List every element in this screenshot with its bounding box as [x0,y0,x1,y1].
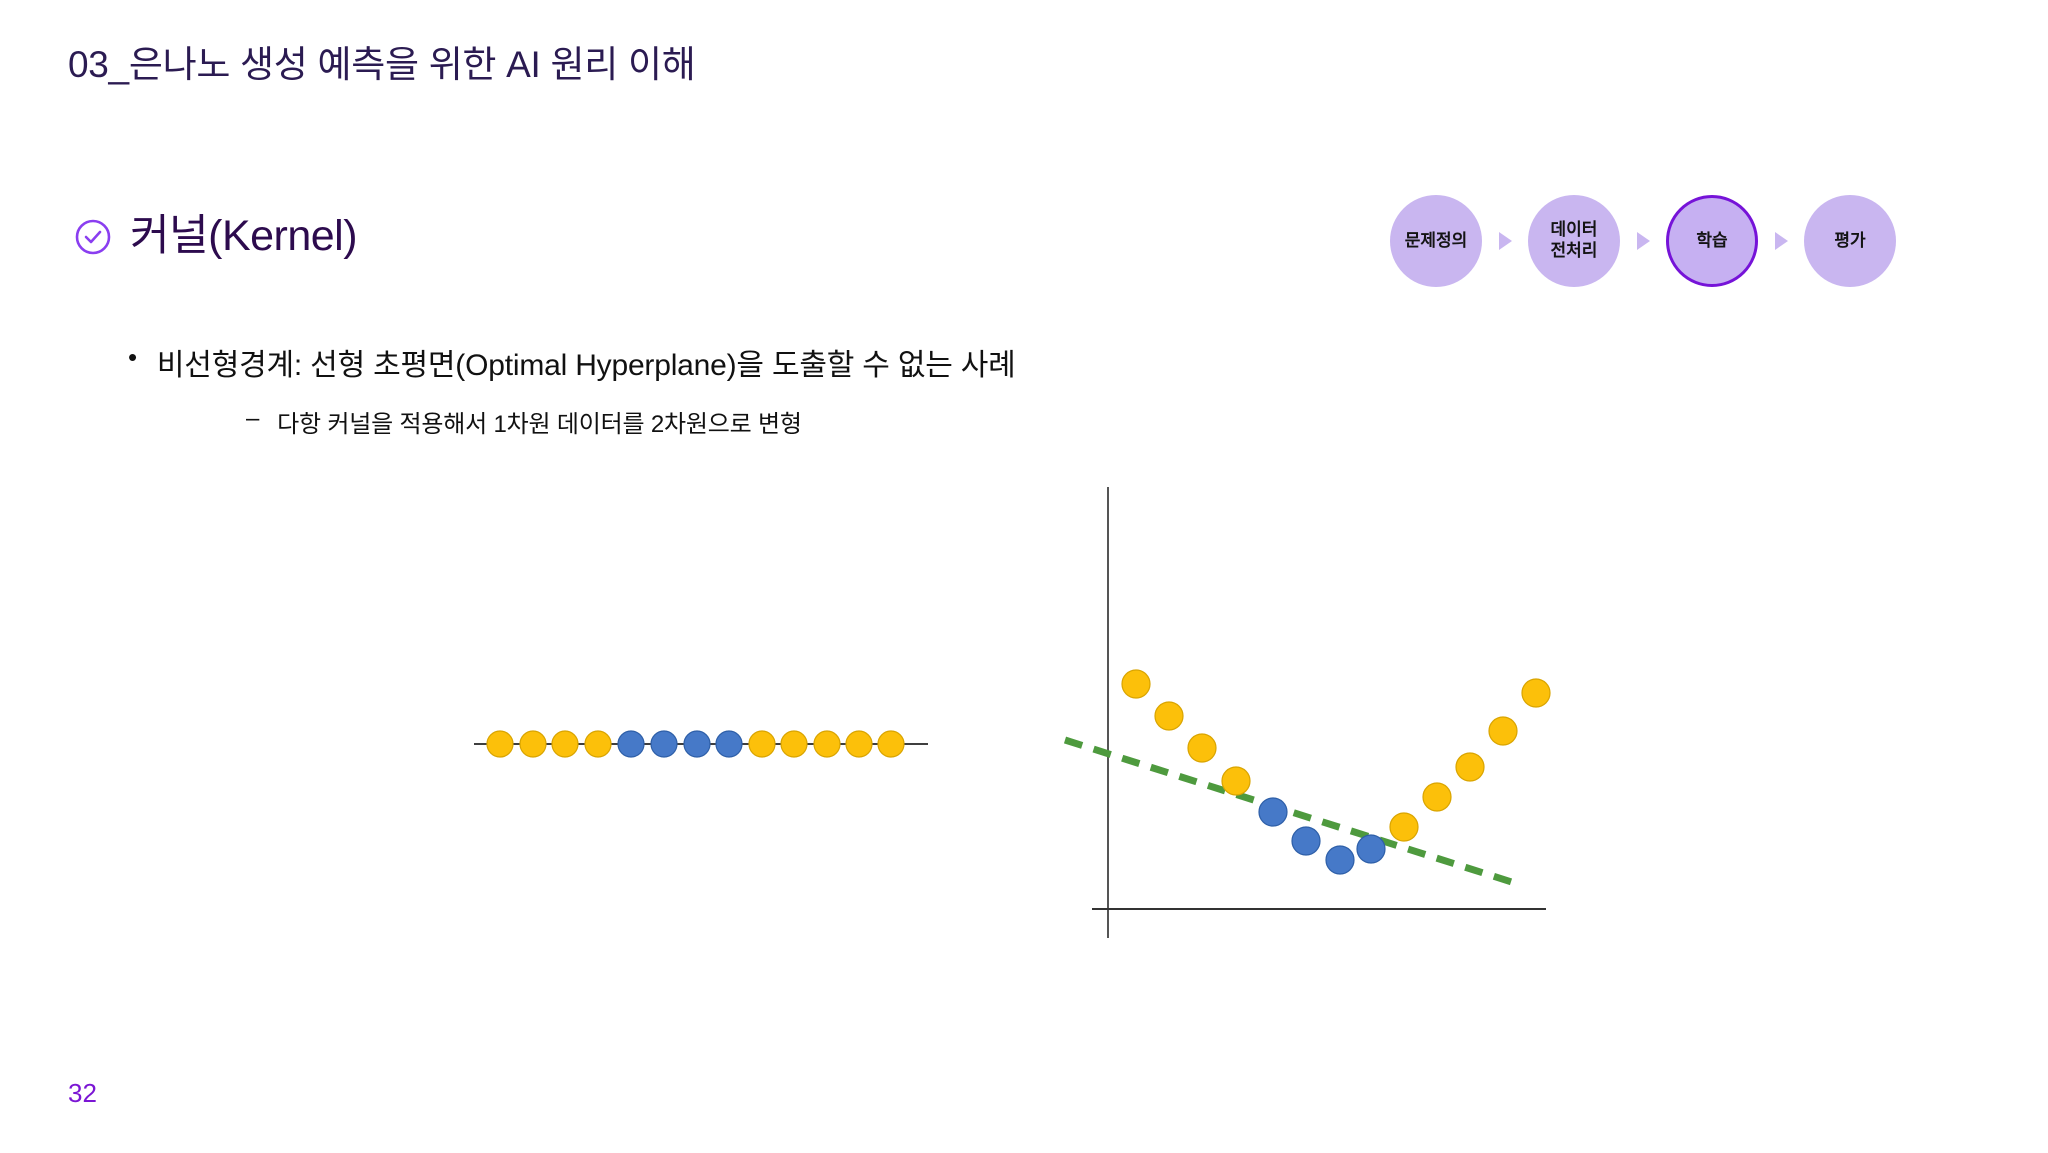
scatter-2d-point-class-yellow [1222,767,1250,795]
process-arrow-2 [1620,232,1666,250]
section-heading: 커널(Kernel) [74,215,357,258]
scatter-1d-point-class-yellow [552,731,578,757]
scatter-1d-point-class-yellow-right [846,731,872,757]
check-circle-icon [74,218,112,256]
process-arrow-1 [1482,232,1528,250]
scatter-2d-point-class-blue [1292,827,1320,855]
scatter-1d-point-class-yellow-right [878,731,904,757]
scatter-2d-point-class-blue [1357,835,1385,863]
slide-title: 03_은나노 생성 예측을 위한 AI 원리 이해 [68,34,695,88]
scatter-1d-point-class-blue [651,731,677,757]
scatter-2d-point-class-yellow [1489,717,1517,745]
scatter-2d-point-class-yellow [1423,783,1451,811]
process-step-data-preprocessing[interactable]: 데이터 전처리 [1528,195,1620,287]
separating-hyperplane [1065,740,1518,884]
scatter-2d-hyperplane [1065,740,1518,884]
page-number: 32 [68,1078,97,1109]
process-step-evaluation[interactable]: 평가 [1804,195,1896,287]
scatter-2d-point-class-yellow [1522,679,1550,707]
process-step-problem-definition[interactable]: 문제정의 [1390,195,1482,287]
process-step-training[interactable]: 학습 [1666,195,1758,287]
scatter-2d-point-class-yellow [1188,734,1216,762]
scatter-1d-point-class-blue [684,731,710,757]
bullet-marker-dash: – [246,404,259,434]
scatter-2d-point-class-yellow [1155,702,1183,730]
scatter-1d-point-class-blue [716,731,742,757]
scatter-2d-points [1122,670,1550,874]
scatter-1d-point-class-yellow [487,731,513,757]
bullet-primary: • 비선형경계: 선형 초평면(Optimal Hyperplane)을 도출할… [128,340,1016,384]
slide-canvas: 03_은나노 생성 예측을 위한 AI 원리 이해 커널(Kernel) • 비… [0,0,2048,1153]
process-arrow-3 [1758,232,1804,250]
scatter-1d-point-class-blue [618,731,644,757]
scatter-1d-point-class-yellow-right [814,731,840,757]
bullet-secondary: – 다항 커널을 적용해서 1차원 데이터를 2차원으로 변형 [246,404,802,439]
scatter-2d-point-class-blue [1326,846,1354,874]
scatter-1d-point-class-yellow [585,731,611,757]
one-dimensional-scatter-figure [460,700,950,790]
scatter-1d-point-class-yellow [520,731,546,757]
bullet-marker-dot: • [128,340,137,374]
scatter-2d-point-class-yellow [1122,670,1150,698]
scatter-1d-point-class-yellow-right [749,731,775,757]
scatter-2d-point-class-blue [1259,798,1287,826]
section-heading-label: 커널(Kernel) [130,215,357,258]
bullet-secondary-text: 다항 커널을 적용해서 1차원 데이터를 2차원으로 변형 [277,404,802,439]
scatter-2d-point-class-yellow [1456,753,1484,781]
bullet-primary-text: 비선형경계: 선형 초평면(Optimal Hyperplane)을 도출할 수… [157,340,1016,384]
process-flow: 문제정의 데이터 전처리 학습 평가 [1390,195,1896,287]
scatter-1d-point-class-yellow-right [781,731,807,757]
two-dimensional-scatter-figure [1050,470,1570,960]
scatter-2d-point-class-yellow [1390,813,1418,841]
